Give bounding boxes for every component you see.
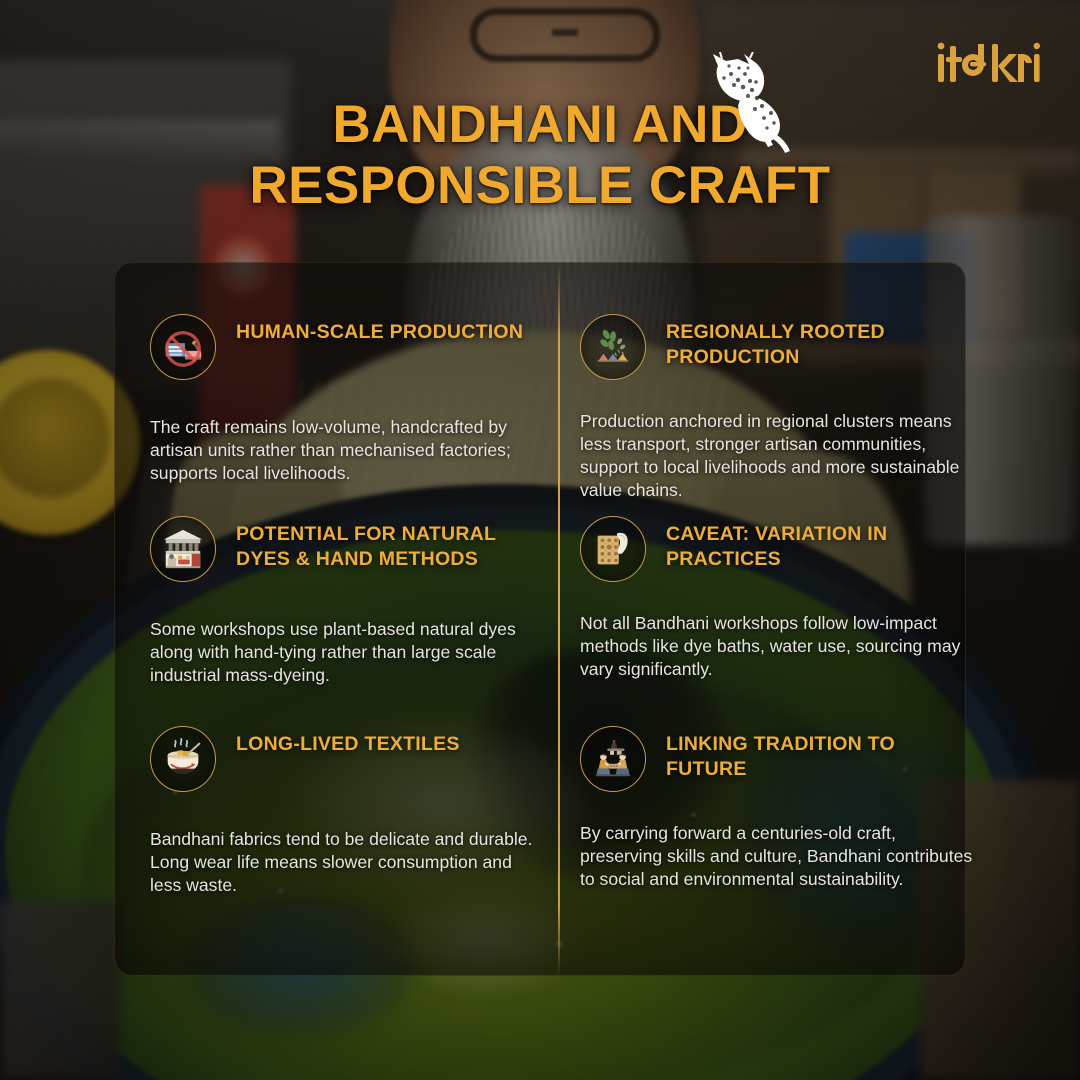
card-title: CAVEAT: VARIATION IN PRACTICES (666, 516, 980, 571)
card-title: HUMAN-SCALE PRODUCTION (236, 314, 523, 345)
no-factory-icon (150, 314, 216, 380)
card-title: LINKING TRADITION TO FUTURE (666, 726, 980, 781)
card-body: The craft remains low-volume, handcrafte… (150, 416, 542, 485)
card-title: REGIONALLY ROOTED PRODUCTION (666, 314, 980, 369)
two-artisans-icon (580, 726, 646, 792)
card-header: POTENTIAL FOR NATURAL DYES & HAND METHOD… (150, 516, 542, 596)
card-header: LONG-LIVED TEXTILES (150, 726, 542, 806)
card-body: By carrying forward a centuries-old craf… (580, 822, 980, 891)
card-title: LONG-LIVED TEXTILES (236, 726, 460, 757)
artisan-workshop-icon (150, 516, 216, 582)
card-human-scale-production: HUMAN-SCALE PRODUCTION The craft remains… (150, 314, 542, 485)
card-body: Not all Bandhani workshops follow low-im… (580, 612, 980, 681)
cards-grid: HUMAN-SCALE PRODUCTION The craft remains… (0, 0, 1080, 1080)
card-body: Production anchored in regional clusters… (580, 410, 980, 501)
natural-dye-leaves-icon (580, 314, 646, 380)
card-body: Bandhani fabrics tend to be delicate and… (150, 828, 542, 897)
card-header: CAVEAT: VARIATION IN PRACTICES (580, 516, 980, 596)
card-linking-tradition-to-future: LINKING TRADITION TO FUTURE By carrying … (580, 726, 980, 891)
card-header: REGIONALLY ROOTED PRODUCTION (580, 314, 980, 394)
card-regionally-rooted-production: REGIONALLY ROOTED PRODUCTION Production … (580, 314, 980, 501)
card-caveat-variation-in-practices: CAVEAT: VARIATION IN PRACTICES Not all B… (580, 516, 980, 681)
hand-holding-patterned-fabric-icon (580, 516, 646, 582)
card-long-lived-textiles: LONG-LIVED TEXTILES Bandhani fabrics ten… (150, 726, 542, 897)
card-natural-dyes-hand-methods: POTENTIAL FOR NATURAL DYES & HAND METHOD… (150, 516, 542, 687)
dye-pot-icon (150, 726, 216, 792)
card-title: POTENTIAL FOR NATURAL DYES & HAND METHOD… (236, 516, 542, 571)
card-header: HUMAN-SCALE PRODUCTION (150, 314, 542, 394)
card-body: Some workshops use plant-based natural d… (150, 618, 542, 687)
card-header: LINKING TRADITION TO FUTURE (580, 726, 980, 806)
